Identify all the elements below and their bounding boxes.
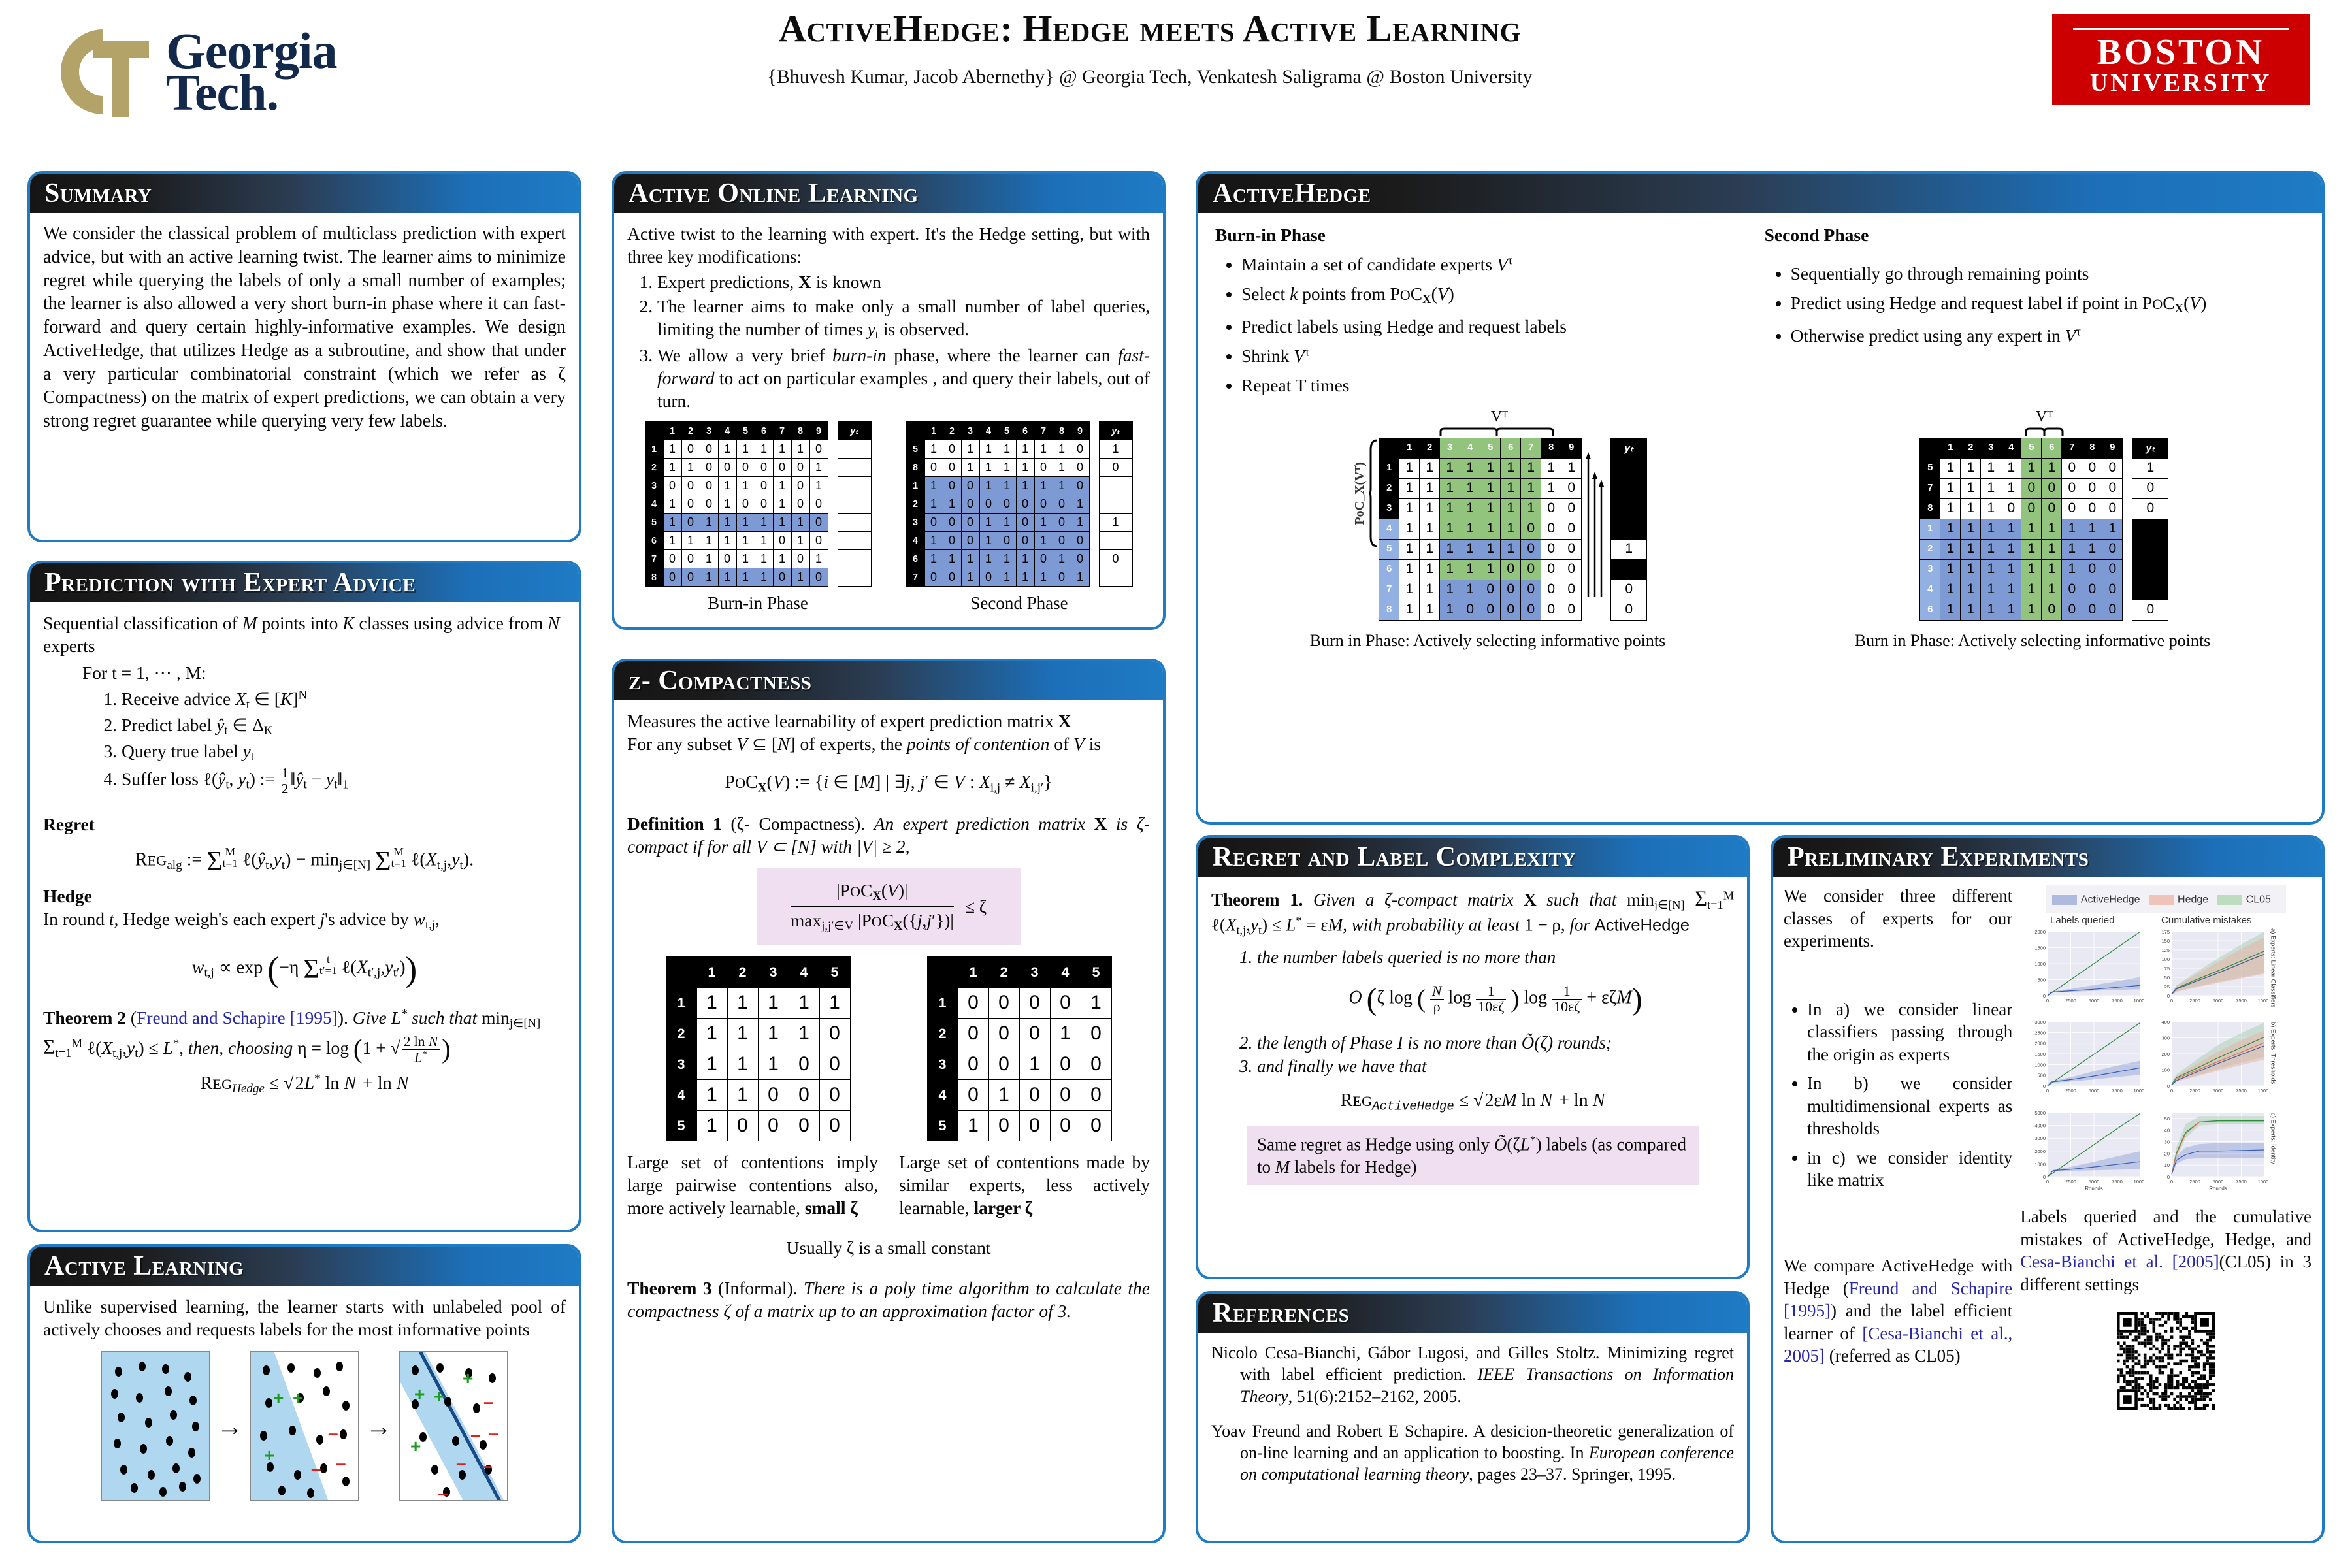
- gt-monogram-icon: [52, 23, 157, 121]
- summary-body: We consider the classical problem of mul…: [30, 213, 579, 439]
- svg-text:1000: 1000: [2035, 1062, 2046, 1068]
- svg-text:5000: 5000: [2213, 998, 2224, 1004]
- svg-text:10000: 10000: [2134, 1179, 2144, 1184]
- theorem2-citation[interactable]: Freund and Schapire: [137, 1007, 286, 1028]
- experiments-text-col: We consider three different classes of e…: [1784, 885, 2012, 1410]
- definition1: Definition 1 (ζ- Compactness). An expert…: [627, 812, 1150, 858]
- summary-header: Summary: [30, 174, 579, 213]
- regret-complexity-header: Regret and Label Complexity: [1198, 838, 1747, 877]
- prediction-title: Prediction with Expert Advice: [44, 567, 416, 598]
- experiments-header: Preliminary Experiments: [1773, 838, 2322, 877]
- activehedge-header: ActiveHedge: [1198, 174, 2322, 213]
- regret-highlight-text: Same regret as Hedge using only Õ(ζL*) l…: [1247, 1126, 1699, 1185]
- svg-text:3000: 3000: [2035, 1135, 2046, 1141]
- svg-text:0: 0: [2046, 1088, 2049, 1094]
- theorem2: Theorem 2 (Freund and Schapire [1995]). …: [43, 1006, 566, 1066]
- list-item: Maintain a set of candidate experts Vτ: [1241, 253, 1739, 276]
- svg-text:400: 400: [2162, 1019, 2170, 1025]
- regret-complexity-block: Regret and Label Complexity Theorem 1. G…: [1196, 835, 1750, 1279]
- prediction-steps: Receive advice Xt ∈ [K]N Predict label ŷ…: [43, 687, 566, 796]
- compactness-title: ζ- Compactness: [629, 665, 811, 696]
- list-item: and finally we have that: [1257, 1055, 1734, 1078]
- second-matrix: 1234567895101111110800111101011001111102…: [906, 421, 1090, 587]
- bu-logo-line2: UNIVERSITY: [2090, 71, 2272, 95]
- svg-text:30: 30: [2164, 1139, 2170, 1145]
- active-online-list: Expert predictions, X is known The learn…: [627, 270, 1150, 412]
- list-item: We allow a very brief burn-in phase, whe…: [657, 344, 1150, 413]
- chart-2: 0500100015002000250030000250050007500100…: [2020, 1017, 2144, 1100]
- active-learning-header: Active Learning: [30, 1247, 579, 1286]
- active-online-header: Active Online Learning: [614, 174, 1163, 213]
- svg-text:0: 0: [2043, 993, 2046, 999]
- svg-text:7500: 7500: [2236, 1179, 2247, 1184]
- svg-text:500: 500: [2038, 977, 2046, 983]
- activehedge-second-col: Second Phase Sequentially go through rem…: [1765, 223, 2288, 403]
- active-learning-text: Unlike supervised learning, the learner …: [43, 1295, 566, 1341]
- svg-text:7500: 7500: [2112, 998, 2123, 1004]
- burnin-phase-title: Burn-in Phase: [1215, 223, 1739, 246]
- svg-text:2000: 2000: [2035, 929, 2046, 935]
- svg-text:50: 50: [2164, 1116, 2170, 1122]
- ah-left-vtau-label: Vᵀ: [1352, 407, 1648, 427]
- svg-text:10000: 10000: [2134, 998, 2144, 1004]
- theorem1: Theorem 1. Given a ζ-compact matrix X su…: [1211, 886, 1734, 938]
- svg-text:500: 500: [2038, 1073, 2046, 1079]
- active-online-intro: Active twist to the learning with expert…: [627, 222, 1150, 268]
- list-item: Predict label ŷt ∈ ΔK: [122, 713, 566, 739]
- svg-text:2500: 2500: [2189, 1179, 2200, 1184]
- regret-label: Regret: [43, 813, 566, 836]
- theorem2-name: Theorem 2: [43, 1007, 126, 1028]
- activehedge-phases: Burn-in Phase Maintain a set of candidat…: [1215, 223, 2305, 403]
- list-item: Query true label yt: [122, 740, 566, 765]
- svg-text:0: 0: [2046, 998, 2049, 1004]
- svg-text:25: 25: [2164, 984, 2170, 990]
- activehedge-captions: Burn in Phase: Actively selecting inform…: [1215, 630, 2305, 651]
- svg-text:10000: 10000: [2258, 1088, 2268, 1094]
- second-caption: Second Phase: [906, 592, 1133, 615]
- list-item: In a) we consider linear classifiers pas…: [1807, 998, 2012, 1066]
- burnin-caption: Burn-in Phase: [645, 592, 872, 615]
- list-item: Repeat T times: [1241, 374, 1739, 397]
- references-title: References: [1213, 1298, 1349, 1329]
- poc-equation: POCX(V) := {i ∈ [M] | ∃j, j′ ∈ V : Xi,j …: [627, 771, 1150, 796]
- theorem2-equation: REGHedge ≤ √2L* ln N + ln N: [43, 1071, 566, 1098]
- boston-university-logo: BOSTON UNIVERSITY: [2050, 12, 2311, 107]
- ah-right-figure: Vᵀ 1234567895111111000711110000081110000…: [1919, 407, 2168, 621]
- svg-text:7500: 7500: [2112, 1179, 2123, 1184]
- svg-text:1500: 1500: [2035, 1051, 2046, 1057]
- reference-item: Yoav Freund and Robert E Schapire. A des…: [1211, 1420, 1734, 1486]
- list-item: Suffer loss ℓ(ŷt, yt) := 12‖ŷt − yt‖1: [122, 766, 566, 796]
- compare-link-freund[interactable]: Freund and Schapire [1995]: [1784, 1279, 2012, 1321]
- compactness-block: ζ- Compactness Measures the active learn…: [612, 659, 1166, 1543]
- svg-text:50: 50: [2164, 975, 2170, 981]
- compactness-captions: Large set of contentions imply large pai…: [627, 1151, 1150, 1220]
- figure-caption-link[interactable]: Cesa-Bianchi et al. [2005]: [2020, 1252, 2219, 1271]
- ah-poc-bracket: PoC_X(Vᵀ): [1352, 438, 1379, 549]
- references-block: References Nicolo Cesa-Bianchi, Gábor Lu…: [1196, 1291, 1750, 1543]
- hedge-intro: In round t, Hedge weigh's each expert j'…: [43, 907, 566, 933]
- poster-header: Georgia Tech. ActiveHedge: Hedge meets A…: [0, 0, 2352, 163]
- theorem3-paren: (Informal): [718, 1278, 793, 1298]
- svg-text:0: 0: [2167, 1083, 2170, 1089]
- theorem2-year[interactable]: [1995]: [290, 1007, 338, 1028]
- svg-text:2500: 2500: [2189, 1088, 2200, 1094]
- ah-left-yt-column: yₜ100: [1610, 438, 1647, 621]
- svg-text:100: 100: [2162, 956, 2170, 962]
- list-item: the length of Phase I is no more than Õ(…: [1257, 1032, 1734, 1054]
- compactness-header: ζ- Compactness: [614, 661, 1163, 700]
- bu-logo-line1: BOSTON: [2097, 34, 2264, 71]
- compactness-intro1: Measures the active learnability of expe…: [627, 710, 1150, 732]
- ah-right-yt-column: yₜ1000: [2132, 438, 2168, 621]
- svg-text:5000: 5000: [2213, 1088, 2224, 1094]
- svg-text:0: 0: [2170, 1088, 2173, 1094]
- compactness-left-caption: Large set of contentions imply large pai…: [627, 1151, 878, 1220]
- active-online-figures: 1234567891100111110211000000130001101014…: [627, 421, 1150, 615]
- svg-text:75: 75: [2164, 966, 2170, 972]
- svg-text:40: 40: [2164, 1128, 2170, 1134]
- prediction-intro: Sequential classification of M points in…: [43, 612, 566, 657]
- svg-text:0: 0: [2167, 993, 2170, 999]
- experiments-title: Preliminary Experiments: [1788, 841, 2089, 873]
- regret-equation: REGalg := ΣMt=1 ℓ(ŷt,yt) − minj∈[N] ΣMt=…: [43, 846, 566, 874]
- svg-text:1000: 1000: [2035, 1161, 2046, 1167]
- svg-text:5000: 5000: [2213, 1179, 2224, 1184]
- svg-text:100: 100: [2162, 1068, 2170, 1073]
- burnin-figure: 1234567891100111110211000000130001101014…: [645, 421, 872, 615]
- list-item: Predict labels using Hedge and request l…: [1241, 315, 1739, 338]
- theorem3: Theorem 3 (Informal). There is a poly ti…: [627, 1277, 1150, 1322]
- svg-text:2500: 2500: [2065, 1179, 2076, 1184]
- theorem1-equation: REGActiveHedge ≤ √2εM ln N + ln N: [1211, 1089, 1734, 1115]
- summary-title: Summary: [44, 178, 152, 209]
- svg-text:2500: 2500: [2189, 998, 2200, 1004]
- georgia-tech-logo: Georgia Tech.: [52, 20, 392, 124]
- svg-text:2500: 2500: [2065, 1088, 2076, 1094]
- list-item: Expert predictions, X is known: [657, 270, 1150, 293]
- svg-text:0: 0: [2170, 998, 2173, 1004]
- compactness-body: Measures the active learnability of expe…: [614, 700, 1163, 1329]
- compactness-right-caption: Large set of contentions made by similar…: [899, 1151, 1150, 1220]
- second-phase-title: Second Phase: [1765, 223, 2288, 246]
- list-item: The learner aims to make only a small nu…: [657, 295, 1150, 343]
- definition1-paren: (ζ- Compactness): [730, 813, 860, 834]
- activehedge-burnin-col: Burn-in Phase Maintain a set of candidat…: [1215, 223, 1739, 403]
- chart-3: 0100200300400025005000750010000: [2144, 1017, 2268, 1100]
- active-online-block: Active Online Learning Active twist to t…: [612, 171, 1166, 630]
- compactness-left-matrix: 12345111111211110311100411000510000: [666, 956, 851, 1141]
- compactness-right-matrix: 12345100001200010300100401000510000: [927, 956, 1112, 1141]
- definition1-name: Definition 1: [627, 813, 722, 834]
- prediction-header: Prediction with Expert Advice: [30, 563, 579, 602]
- list-item: Receive advice Xt ∈ [K]N: [122, 687, 566, 713]
- svg-text:5000: 5000: [2089, 998, 2100, 1004]
- svg-text:7500: 7500: [2236, 1088, 2247, 1094]
- svg-text:0: 0: [2167, 1174, 2170, 1180]
- svg-text:2000: 2000: [2035, 1149, 2046, 1154]
- list-item: Shrink Vτ: [1241, 344, 1739, 367]
- burnin-phase-list: Maintain a set of candidate experts Vτ S…: [1215, 253, 1739, 397]
- experiments-bullets: In a) we consider linear classifiers pas…: [1784, 998, 2012, 1192]
- prediction-block: Prediction with Expert Advice Sequential…: [27, 561, 581, 1232]
- svg-text:1500: 1500: [2035, 945, 2046, 951]
- svg-text:0: 0: [2046, 1179, 2049, 1184]
- title-block: ActiveHedge: Hedge meets Active Learning…: [497, 7, 1803, 88]
- chart-1: 0255075100125150175025005000750010000: [2144, 926, 2268, 1010]
- prediction-body: Sequential classification of M points in…: [30, 602, 579, 1115]
- svg-text:4000: 4000: [2035, 1122, 2046, 1128]
- al-panel-classified: ++ ++ –– –– ––: [399, 1351, 508, 1501]
- experiments-compare-text: We compare ActiveHedge with Hedge (Freun…: [1784, 1254, 2012, 1367]
- svg-text:0: 0: [2170, 1179, 2173, 1184]
- compactness-figures: 12345111111211110311100411000510000 1234…: [627, 956, 1150, 1141]
- experiments-body: We consider three different classes of e…: [1773, 877, 2322, 1418]
- svg-text:10: 10: [2164, 1162, 2170, 1168]
- activehedge-title: ActiveHedge: [1213, 178, 1371, 209]
- svg-text:5000: 5000: [2089, 1088, 2100, 1094]
- experiments-block: Preliminary Experiments We consider thre…: [1771, 835, 2325, 1543]
- svg-text:0: 0: [2043, 1174, 2046, 1180]
- al-panel-partial: ++ + –– –: [250, 1351, 359, 1501]
- reference-item: Nicolo Cesa-Bianchi, Gábor Lugosi, and G…: [1211, 1342, 1734, 1407]
- list-item: Select k points from POCX(V): [1241, 282, 1739, 308]
- svg-text:Rounds: Rounds: [2085, 1186, 2103, 1191]
- active-online-body: Active twist to the learning with expert…: [614, 213, 1163, 621]
- svg-text:2500: 2500: [2035, 1030, 2046, 1036]
- page-title: ActiveHedge: Hedge meets Active Learning: [497, 7, 1803, 50]
- second-figure: 1234567895101111110800111101011001111102…: [906, 421, 1133, 615]
- chart-0: 0500100015002000025005000750010000: [2020, 926, 2144, 1010]
- svg-text:20: 20: [2164, 1151, 2170, 1156]
- ah-right-caption: Burn in Phase: Actively selecting inform…: [1855, 630, 2210, 651]
- ah-right-vtau-label: Vᵀ: [1919, 407, 2168, 427]
- list-item: the number labels queried is no more tha…: [1257, 946, 1734, 1020]
- experiments-intro: We consider three different classes of e…: [1784, 885, 2012, 953]
- svg-text:2000: 2000: [2035, 1041, 2046, 1047]
- for-loop-line: For t = 1, ⋯ , M:: [82, 661, 566, 684]
- compare-link-cesa[interactable]: [Cesa-Bianchi et al., 2005]: [1784, 1324, 2012, 1366]
- summary-block: Summary We consider the classical proble…: [27, 171, 581, 542]
- svg-text:5000: 5000: [2089, 1179, 2100, 1184]
- compactness-ratio-highlight: |POCX(V)| maxj,j′∈V |POCX({j,j′})| ≤ ζ: [627, 868, 1150, 944]
- svg-text:10000: 10000: [2134, 1088, 2144, 1094]
- svg-text:300: 300: [2162, 1036, 2170, 1041]
- active-learning-body: Unlike supervised learning, the learner …: [30, 1286, 579, 1508]
- list-item: in c) we consider identity like matrix: [1807, 1147, 2012, 1192]
- svg-text:2500: 2500: [2065, 998, 2076, 1004]
- svg-text:0: 0: [2043, 1083, 2046, 1089]
- activehedge-body: Burn-in Phase Maintain a set of candidat…: [1198, 213, 2322, 662]
- ah-left-caption: Burn in Phase: Actively selecting inform…: [1310, 630, 1665, 651]
- chart-legend: ActiveHedge Hedge CL05: [2020, 885, 2311, 913]
- svg-text:5000: 5000: [2035, 1110, 2046, 1116]
- charts-area: Labels queried05001000150020000250050007…: [2020, 914, 2311, 1197]
- hedge-label: Hedge: [43, 885, 566, 907]
- active-online-title: Active Online Learning: [629, 178, 919, 209]
- bu-rule-top: [2073, 28, 2289, 30]
- regret-complexity-title: Regret and Label Complexity: [1213, 841, 1576, 873]
- burnin-yt-column: yₜ: [838, 421, 872, 587]
- svg-text:10000: 10000: [2258, 998, 2268, 1004]
- svg-text:125: 125: [2162, 947, 2170, 953]
- poc-label: PoC_X(Vᵀ): [1352, 462, 1369, 525]
- theorem3-name: Theorem 3: [627, 1278, 712, 1298]
- svg-text:175: 175: [2162, 929, 2170, 935]
- arrow-right-icon-2: →: [359, 1410, 399, 1443]
- list-item: Predict using Hedge and request label if…: [1791, 291, 2288, 317]
- references-body: Nicolo Cesa-Bianchi, Gábor Lugosi, and G…: [1198, 1333, 1747, 1492]
- author-line: {Bhuvesh Kumar, Jacob Abernethy} @ Georg…: [497, 66, 1803, 88]
- svg-text:200: 200: [2162, 1051, 2170, 1057]
- hedge-equation: wt,j ∝ exp (−η Σtt′=1 ℓ(Xt′,j,yt′)): [43, 947, 566, 992]
- compactness-usually-line: Usually ζ is a small constant: [627, 1236, 1150, 1259]
- regret-complexity-body: Theorem 1. Given a ζ-compact matrix X su…: [1198, 877, 1747, 1192]
- al-panel-unlabeled: [101, 1351, 210, 1501]
- list-item: Otherwise predict using any expert in Vτ: [1791, 324, 2288, 347]
- second-yt-column: yₜ10 1 0: [1099, 421, 1133, 587]
- svg-text:3000: 3000: [2035, 1019, 2046, 1025]
- svg-text:7500: 7500: [2112, 1088, 2123, 1094]
- compactness-intro2: For any subset V ⊆ [N] of experts, the p…: [627, 732, 1150, 755]
- active-learning-title: Active Learning: [44, 1250, 244, 1282]
- ah-left-matrix: 1234567891111111111211111111031111111004…: [1379, 438, 1582, 621]
- second-phase-list: Sequentially go through remaining points…: [1765, 262, 2288, 347]
- chart-5: 01020304050025005000750010000Rounds: [2144, 1107, 2268, 1191]
- svg-text:7500: 7500: [2236, 998, 2247, 1004]
- theorem1-items: the number labels queried is no more tha…: [1211, 946, 1734, 1078]
- theorem1-name: Theorem 1.: [1211, 890, 1303, 909]
- figure-caption: Labels queried and the cumulative mistak…: [2020, 1205, 2311, 1296]
- burnin-matrix: 1234567891100111110211000000130001101014…: [645, 421, 828, 587]
- qr-code-icon[interactable]: [2117, 1312, 2215, 1410]
- activehedge-figures: Vᵀ PoC_X(Vᵀ) 123456789111111111121111111…: [1215, 407, 2305, 621]
- svg-text:Rounds: Rounds: [2209, 1186, 2227, 1191]
- svg-text:1000: 1000: [2035, 961, 2046, 967]
- svg-text:150: 150: [2162, 938, 2170, 944]
- gt-wordmark: Georgia Tech.: [166, 30, 337, 114]
- svg-text:10000: 10000: [2258, 1179, 2268, 1184]
- activehedge-block: ActiveHedge Burn-in Phase Maintain a set…: [1196, 171, 2325, 825]
- list-item: Sequentially go through remaining points: [1791, 262, 2288, 285]
- active-learning-figure: → ++ + –– – →: [43, 1351, 566, 1501]
- experiments-figure-col: ActiveHedge Hedge CL05 Labels queried050…: [2020, 885, 2311, 1410]
- ah-right-matrix: 1234567895111111000711110000081110000001…: [1919, 438, 2123, 621]
- chart-4: 010002000300040005000025005000750010000R…: [2020, 1107, 2144, 1191]
- regret-highlight-box: Same regret as Hedge using only Õ(ζL*) l…: [1211, 1126, 1734, 1185]
- ah-left-figure: Vᵀ PoC_X(Vᵀ) 123456789111111111121111111…: [1352, 407, 1648, 621]
- references-header: References: [1198, 1294, 1747, 1333]
- qr-code-wrap: [2020, 1312, 2311, 1410]
- ah-left-arrows: [1583, 438, 1607, 601]
- list-item: In b) we consider multidimensional exper…: [1807, 1072, 2012, 1140]
- active-learning-block: Active Learning Unlike supervised learni…: [27, 1244, 581, 1543]
- arrow-right-icon: →: [210, 1410, 250, 1443]
